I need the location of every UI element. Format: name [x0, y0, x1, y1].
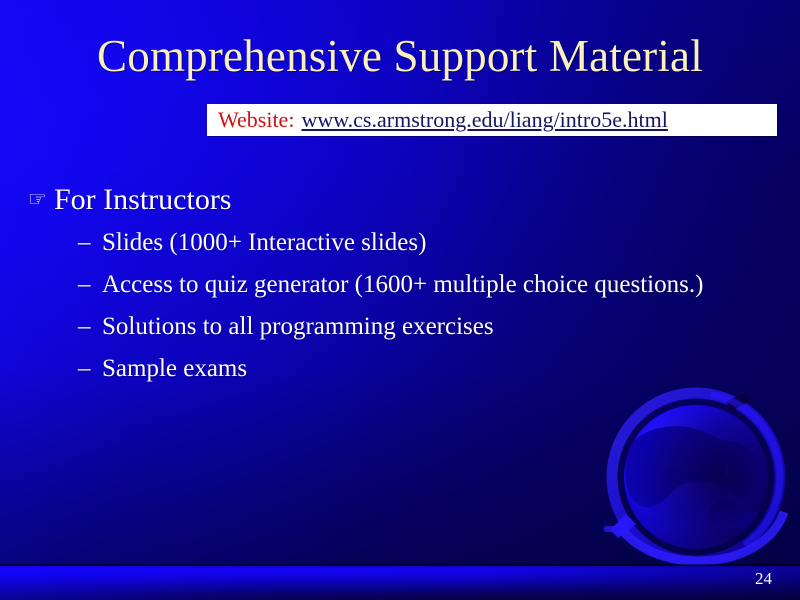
slide-body: ☞ For Instructors – Slides (1000+ Intera… — [28, 182, 728, 386]
website-label: Website: — [218, 108, 294, 132]
page-number: 24 — [755, 568, 772, 590]
pointing-hand-bullet-icon: ☞ — [28, 181, 54, 217]
bullet-level1-label: For Instructors — [54, 182, 231, 218]
list-item-label: Sample exams — [102, 351, 247, 386]
website-callout-box: Website: www.cs.armstrong.edu/liang/intr… — [207, 104, 777, 136]
list-item: – Solutions to all programming exercises — [28, 309, 728, 344]
presentation-slide: Comprehensive Support Material Website: … — [0, 0, 800, 600]
dash-bullet-icon: – — [78, 225, 102, 260]
page-title: Comprehensive Support Material — [0, 28, 800, 84]
dash-bullet-icon: – — [78, 267, 102, 302]
dash-bullet-icon: – — [78, 351, 102, 386]
dash-bullet-icon: – — [78, 309, 102, 344]
website-url-link[interactable]: www.cs.armstrong.edu/liang/intro5e.html — [301, 108, 667, 132]
bullet-level2-list: – Slides (1000+ Interactive slides) – Ac… — [28, 225, 728, 386]
list-item-label: Access to quiz generator (1600+ multiple… — [102, 267, 703, 302]
bullet-level1-for-instructors: ☞ For Instructors — [28, 182, 728, 218]
list-item: – Sample exams — [28, 351, 728, 386]
list-item-label: Slides (1000+ Interactive slides) — [102, 225, 426, 260]
bottom-accent-band-tint — [0, 566, 800, 600]
list-item: – Slides (1000+ Interactive slides) — [28, 225, 728, 260]
list-item-label: Solutions to all programming exercises — [102, 309, 494, 344]
list-item: – Access to quiz generator (1600+ multip… — [28, 267, 728, 302]
